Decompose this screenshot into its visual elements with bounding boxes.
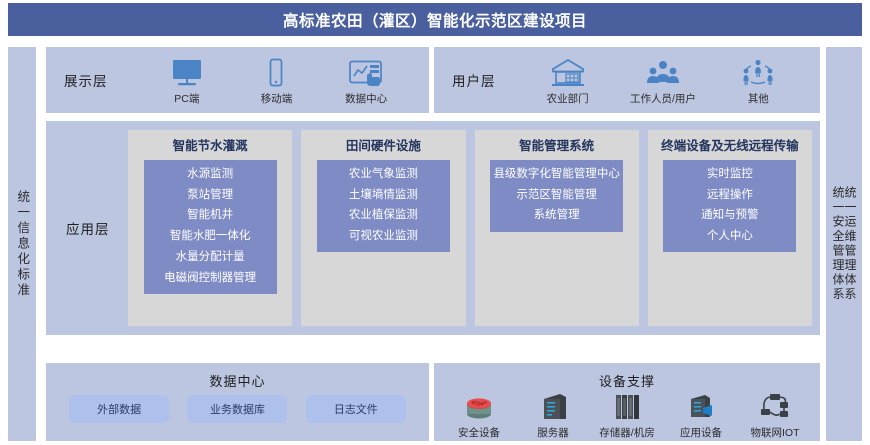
app-card-items: 水源监测 泵站管理 智能机井 智能水肥一体化 水量分配计量 电磁阀控制器管理 bbox=[144, 160, 277, 294]
architecture-diagram: 高标准农田（灌区）智能化示范区建设项目 统一信息化标准 统一安全管理体系 统一运… bbox=[0, 0, 870, 445]
app-card-items: 县级数字化智能管理中心 示范区智能管理 系统管理 bbox=[490, 160, 623, 231]
user-layer-items: 农业部门 工作人员/用户 bbox=[520, 47, 806, 113]
mobile-phone-icon bbox=[259, 54, 293, 88]
people-cycle-icon bbox=[740, 54, 776, 88]
app-item[interactable]: 农业植保监测 bbox=[315, 206, 452, 227]
user-item-other[interactable]: 其他 bbox=[721, 54, 795, 106]
right-rail-label-operations: 统一运维管理体系 bbox=[844, 186, 856, 302]
app-item[interactable]: 个人中心 bbox=[661, 227, 798, 248]
app-item[interactable]: 县级数字化智能管理中心 bbox=[488, 164, 625, 185]
firewall-security-icon bbox=[462, 389, 496, 423]
device-item-server-label: 服务器 bbox=[537, 425, 569, 440]
app-card-title: 智能节水灌溉 bbox=[135, 139, 286, 154]
device-item-iot[interactable]: 物联网IOT bbox=[738, 389, 812, 440]
device-item-storage[interactable]: 存储器/机房 bbox=[590, 389, 664, 440]
user-layer-label: 用户层 bbox=[452, 47, 496, 113]
app-item[interactable]: 水源监测 bbox=[142, 164, 279, 185]
display-item-pc-label: PC端 bbox=[174, 91, 199, 106]
data-center-items: 外部数据 业务数据库 日志文件 bbox=[60, 395, 415, 423]
device-item-application[interactable]: 应用设备 bbox=[664, 389, 738, 440]
device-support-title: 设备支撑 bbox=[434, 371, 820, 390]
app-card-items: 实时监控 远程操作 通知与预警 个人中心 bbox=[663, 160, 796, 252]
device-item-security-label: 安全设备 bbox=[458, 425, 500, 440]
app-item[interactable]: 土壤墒情监测 bbox=[315, 185, 452, 206]
app-card-title: 终端设备及无线远程传输 bbox=[654, 139, 805, 154]
user-item-staff-label: 工作人员/用户 bbox=[630, 91, 696, 106]
app-item[interactable]: 智能水肥一体化 bbox=[142, 227, 279, 248]
app-item[interactable]: 远程操作 bbox=[661, 185, 798, 206]
device-item-storage-label: 存储器/机房 bbox=[599, 425, 654, 440]
iot-network-icon bbox=[758, 389, 792, 423]
app-card-management-system: 智能管理系统 县级数字化智能管理中心 示范区智能管理 系统管理 bbox=[475, 130, 639, 326]
app-item[interactable]: 水量分配计量 bbox=[142, 247, 279, 268]
user-group-icon bbox=[645, 54, 681, 88]
display-item-mobile-label: 移动端 bbox=[261, 91, 293, 106]
display-item-pc[interactable]: PC端 bbox=[150, 54, 224, 106]
data-center-item-business-db[interactable]: 业务数据库 bbox=[187, 395, 287, 423]
app-item[interactable]: 实时监控 bbox=[661, 164, 798, 185]
app-item[interactable]: 通知与预警 bbox=[661, 206, 798, 227]
data-center-panel: 数据中心 外部数据 业务数据库 日志文件 bbox=[46, 363, 429, 441]
app-item[interactable]: 示范区智能管理 bbox=[488, 185, 625, 206]
display-layer-panel: 展示层 PC端 移动端 bbox=[46, 47, 429, 113]
display-item-mobile[interactable]: 移动端 bbox=[239, 54, 313, 106]
page-title: 高标准农田（灌区）智能化示范区建设项目 bbox=[283, 9, 587, 31]
application-layer-label: 应用层 bbox=[66, 121, 110, 335]
app-card-terminal-transmission: 终端设备及无线远程传输 实时监控 远程操作 通知与预警 个人中心 bbox=[648, 130, 812, 326]
user-item-agriculture-dept[interactable]: 农业部门 bbox=[531, 54, 605, 106]
desktop-monitor-icon bbox=[170, 54, 204, 88]
app-card-smart-irrigation: 智能节水灌溉 水源监测 泵站管理 智能机井 智能水肥一体化 水量分配计量 电磁阀… bbox=[128, 130, 292, 326]
display-item-data-center[interactable]: 数据中心 bbox=[329, 54, 403, 106]
data-center-title: 数据中心 bbox=[46, 371, 429, 390]
app-item[interactable]: 智能机井 bbox=[142, 206, 279, 227]
user-item-agriculture-dept-label: 农业部门 bbox=[547, 91, 589, 106]
device-support-items: 安全设备 服务器 bbox=[442, 389, 812, 440]
government-building-icon bbox=[550, 54, 586, 88]
display-layer-label: 展示层 bbox=[64, 47, 108, 113]
right-management-rail: 统一安全管理体系 统一运维管理体系 bbox=[826, 47, 862, 441]
left-rail-label: 统一信息化标准 bbox=[16, 190, 29, 299]
user-item-staff[interactable]: 工作人员/用户 bbox=[626, 54, 700, 106]
application-device-icon bbox=[684, 389, 718, 423]
storage-rack-icon bbox=[610, 389, 644, 423]
application-layer-columns: 智能节水灌溉 水源监测 泵站管理 智能机井 智能水肥一体化 水量分配计量 电磁阀… bbox=[128, 130, 812, 326]
user-layer-panel: 用户层 农业部门 bbox=[434, 47, 820, 113]
server-tower-icon bbox=[536, 389, 570, 423]
right-rail-stack: 统一安全管理体系 统一运维管理体系 bbox=[832, 47, 856, 441]
app-card-field-hardware: 田间硬件设施 农业气象监测 土壤墒情监测 农业植保监测 可视农业监测 bbox=[301, 130, 465, 326]
device-support-panel: 设备支撑 安全设备 bbox=[434, 363, 820, 441]
display-layer-items: PC端 移动端 bbox=[142, 47, 411, 113]
app-item[interactable]: 农业气象监测 bbox=[315, 164, 452, 185]
display-item-data-center-label: 数据中心 bbox=[345, 91, 387, 106]
data-center-item-logs[interactable]: 日志文件 bbox=[306, 395, 406, 423]
app-item[interactable]: 可视农业监测 bbox=[315, 227, 452, 248]
app-item[interactable]: 泵站管理 bbox=[142, 185, 279, 206]
app-item[interactable]: 系统管理 bbox=[488, 206, 625, 227]
device-item-server[interactable]: 服务器 bbox=[516, 389, 590, 440]
device-item-iot-label: 物联网IOT bbox=[751, 425, 800, 440]
device-item-application-label: 应用设备 bbox=[680, 425, 722, 440]
data-center-item-external[interactable]: 外部数据 bbox=[69, 395, 169, 423]
device-item-security[interactable]: 安全设备 bbox=[442, 389, 516, 440]
data-dashboard-tablet-icon bbox=[348, 54, 384, 88]
page-title-bar: 高标准农田（灌区）智能化示范区建设项目 bbox=[8, 3, 862, 36]
app-card-title: 智能管理系统 bbox=[481, 139, 632, 154]
left-standard-rail: 统一信息化标准 bbox=[8, 47, 36, 441]
application-layer-panel: 应用层 智能节水灌溉 水源监测 泵站管理 智能机井 智能水肥一体化 水量分配计量… bbox=[46, 121, 820, 335]
app-item[interactable]: 电磁阀控制器管理 bbox=[142, 268, 279, 289]
app-card-items: 农业气象监测 土壤墒情监测 农业植保监测 可视农业监测 bbox=[317, 160, 450, 252]
app-card-title: 田间硬件设施 bbox=[308, 139, 459, 154]
user-item-other-label: 其他 bbox=[748, 91, 769, 106]
